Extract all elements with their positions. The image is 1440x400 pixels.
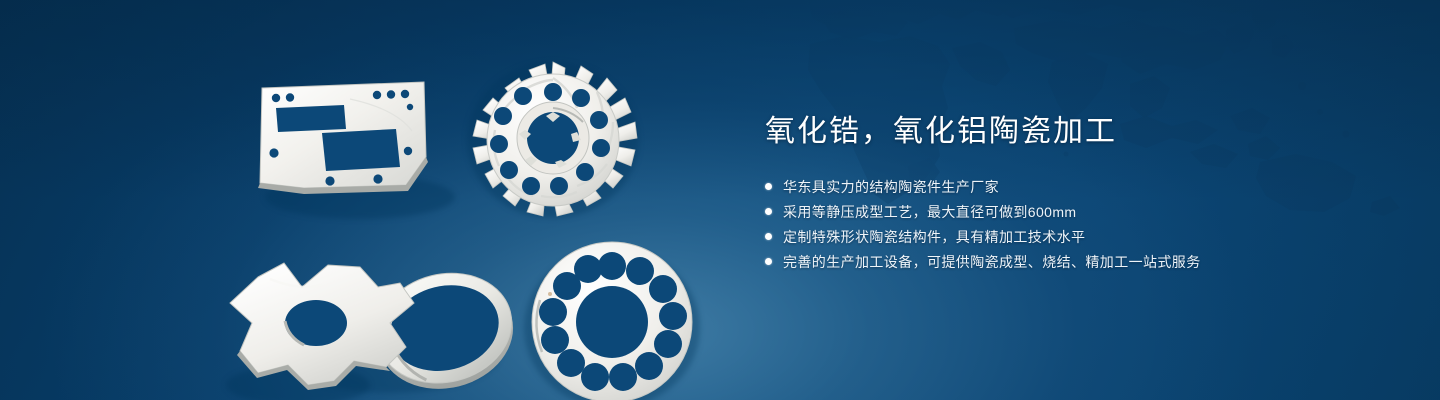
list-item: 采用等静压成型工艺，最大直径可做到600mm bbox=[765, 199, 1325, 224]
list-item-label: 华东具实力的结构陶瓷件生产厂家 bbox=[783, 177, 999, 197]
hero-banner: 氧化锆，氧化铝陶瓷加工 华东具实力的结构陶瓷件生产厂家 采用等静压成型工艺，最大… bbox=[0, 0, 1440, 400]
bullet-dot-icon bbox=[765, 258, 772, 265]
list-item: 完善的生产加工设备，可提供陶瓷成型、烧结、精加工一站式服务 bbox=[765, 249, 1325, 274]
bullet-dot-icon bbox=[765, 233, 772, 240]
ceramic-impeller-disc bbox=[467, 62, 639, 218]
feature-list: 华东具实力的结构陶瓷件生产厂家 采用等静压成型工艺，最大直径可做到600mm 定… bbox=[765, 174, 1325, 274]
bullet-dot-icon bbox=[765, 183, 772, 190]
ceramic-products-image bbox=[200, 55, 720, 400]
list-item-label: 采用等静压成型工艺，最大直径可做到600mm bbox=[783, 202, 1076, 222]
ceramic-flat-plate-with-cutouts bbox=[258, 82, 455, 219]
page-title: 氧化锆，氧化铝陶瓷加工 bbox=[765, 112, 1325, 152]
bullet-dot-icon bbox=[765, 208, 772, 215]
list-item: 华东具实力的结构陶瓷件生产厂家 bbox=[765, 174, 1325, 199]
list-item-label: 完善的生产加工设备，可提供陶瓷成型、烧结、精加工一站式服务 bbox=[783, 252, 1201, 272]
list-item: 定制特殊形状陶瓷结构件，具有精加工技术水平 bbox=[765, 224, 1325, 249]
list-item-label: 定制特殊形状陶瓷结构件，具有精加工技术水平 bbox=[783, 227, 1085, 247]
ceramic-perforated-ring-plate bbox=[524, 242, 700, 400]
banner-copy: 氧化锆，氧化铝陶瓷加工 华东具实力的结构陶瓷件生产厂家 采用等静压成型工艺，最大… bbox=[765, 112, 1325, 274]
